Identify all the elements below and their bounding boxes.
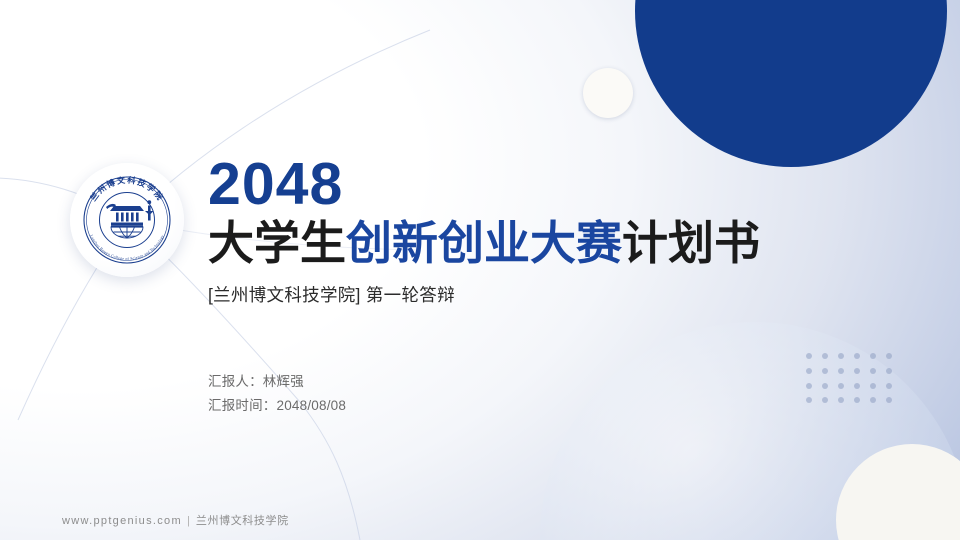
- title-block: 2048 大学生创新创业大赛计划书 [兰州博文科技学院] 第一轮答辩: [208, 155, 848, 306]
- footer: www.pptgenius.com|兰州博文科技学院: [62, 512, 289, 528]
- presenter-meta: 汇报人：林辉强 汇报时间：2048/08/08: [208, 370, 346, 417]
- university-logo: 兰州博文科技学院 Lanzhou Bowen College of Scienc…: [70, 163, 184, 277]
- svg-text:兰州博文科技学院: 兰州博文科技学院: [88, 175, 166, 203]
- title-tail: 计划书: [622, 217, 760, 269]
- slide-content: 兰州博文科技学院 Lanzhou Bowen College of Scienc…: [0, 0, 960, 540]
- year-heading: 2048: [208, 155, 848, 214]
- presentation-cover-slide: 兰州博文科技学院 Lanzhou Bowen College of Scienc…: [0, 0, 960, 540]
- title-lead: 大学生: [208, 217, 346, 269]
- footer-separator: |: [187, 515, 191, 527]
- footer-organization: 兰州博文科技学院: [196, 515, 289, 527]
- title-highlight: 创新创业大赛: [346, 217, 622, 269]
- university-emblem-icon: 兰州博文科技学院 Lanzhou Bowen College of Scienc…: [70, 163, 184, 277]
- subtitle: [兰州博文科技学院] 第一轮答辩: [208, 284, 848, 307]
- page-title: 大学生创新创业大赛计划书: [208, 218, 848, 270]
- footer-website: www.pptgenius.com: [62, 515, 182, 527]
- presenter-name: 汇报人：林辉强: [208, 370, 346, 394]
- presentation-date: 汇报时间：2048/08/08: [208, 394, 346, 418]
